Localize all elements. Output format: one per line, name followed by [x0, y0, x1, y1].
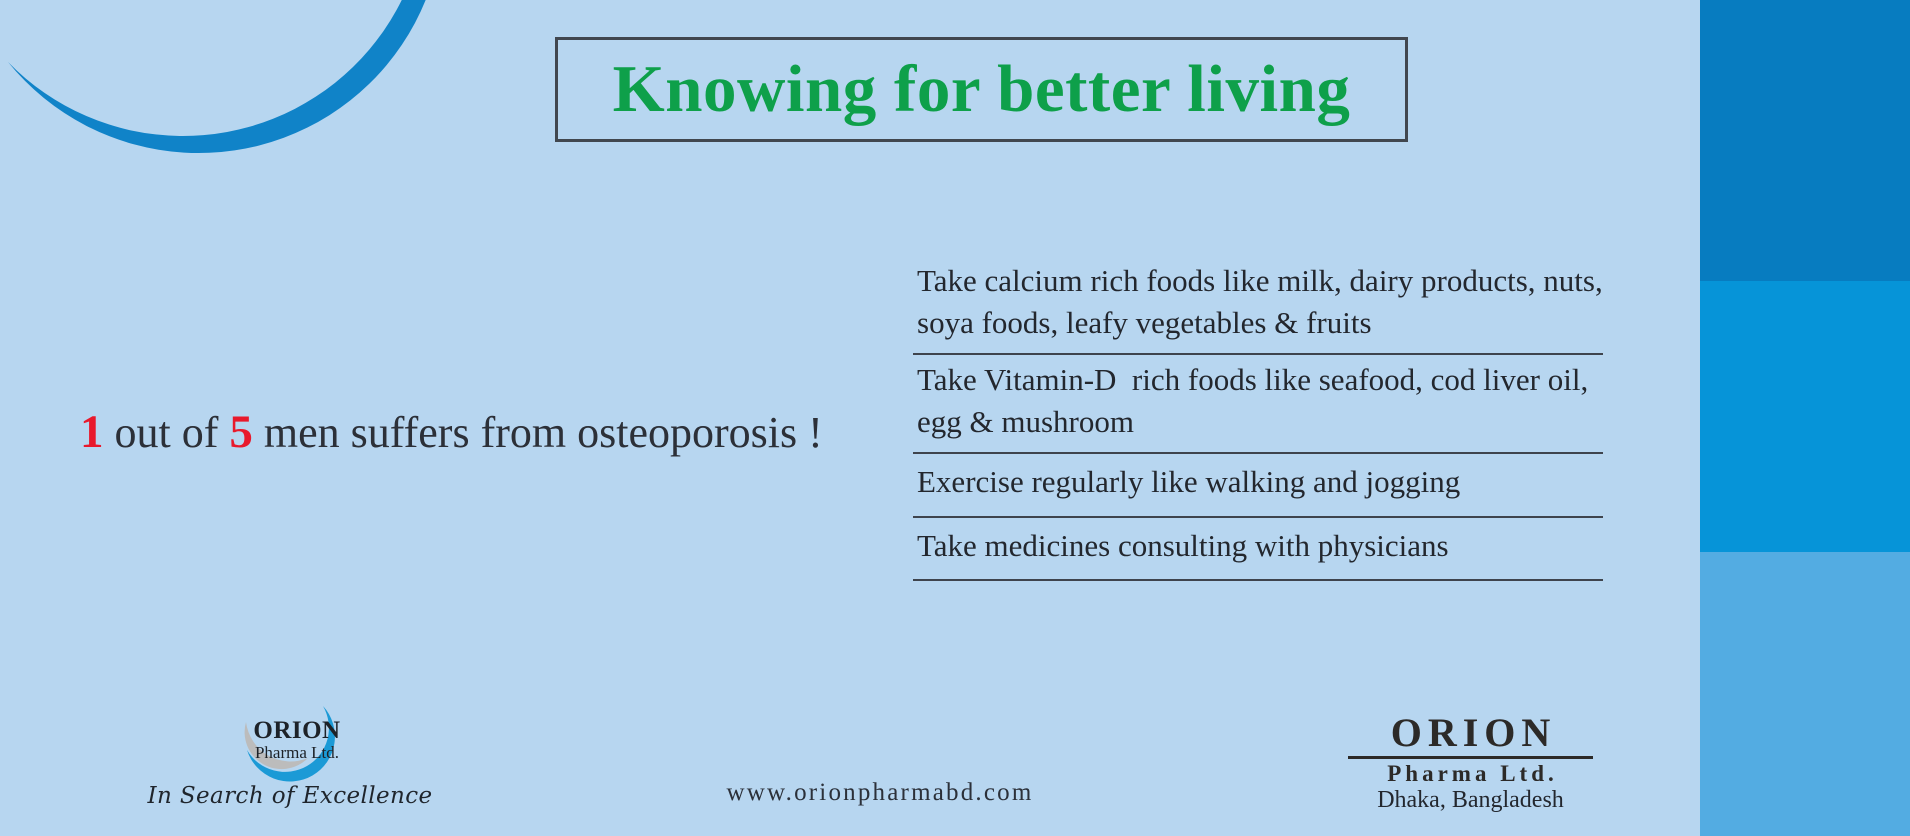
right-block-bottom — [1700, 552, 1910, 836]
tip-item-1: Take calcium rich foods like milk, dairy… — [913, 256, 1603, 355]
tip-item-2: Take Vitamin-D rich foods like seafood, … — [913, 355, 1603, 454]
orion-logo-left-subtitle: Pharma Ltd. — [232, 744, 362, 761]
tip-text-3: Exercise regularly like walking and jogg… — [913, 454, 1603, 509]
tip-text-1: Take calcium rich foods like milk, dairy… — [913, 256, 1603, 346]
statistic-text-end: men suffers from osteoporosis ! — [253, 408, 823, 457]
orion-tagline: In Search of Excellence — [140, 783, 440, 809]
right-block-middle — [1700, 281, 1910, 552]
website-url[interactable]: www.orionpharmabd.com — [600, 779, 1160, 807]
corner-swoosh-decoration — [0, 0, 448, 192]
statistic-number-one: 1 — [80, 406, 104, 458]
swoosh-blue-crescent — [8, 0, 444, 153]
statistic-number-five: 5 — [229, 406, 253, 458]
orion-logo-right-subtitle: Pharma Ltd. — [1348, 761, 1593, 786]
tip-item-4: Take medicines consulting with physician… — [913, 518, 1603, 582]
statistic-text-middle: out of — [104, 408, 230, 457]
orion-logo-left-brand: ORION — [232, 718, 362, 743]
orion-logo-left-wordmark: ORION Pharma Ltd. — [232, 718, 362, 761]
orion-logo-right-rule — [1348, 756, 1593, 759]
tip-text-2: Take Vitamin-D rich foods like seafood, … — [913, 355, 1603, 445]
tip-item-3: Exercise regularly like walking and jogg… — [913, 454, 1603, 518]
orion-logo-left: ORION Pharma Ltd. In Search of Excellenc… — [140, 686, 440, 816]
orion-logo-right-brand: ORION — [1348, 713, 1593, 753]
tip-text-4: Take medicines consulting with physician… — [913, 518, 1603, 573]
title-box: Knowing for better living — [555, 37, 1408, 142]
orion-logo-right-location: Dhaka, Bangladesh — [1348, 787, 1593, 815]
statistic-headline: 1 out of 5 men suffers from osteoporosis… — [80, 405, 820, 459]
orion-logo-right: ORION Pharma Ltd. Dhaka, Bangladesh — [1348, 713, 1593, 815]
right-color-column — [1700, 0, 1910, 836]
slide-canvas: Knowing for better living 1 out of 5 men… — [0, 0, 1910, 836]
tips-list: Take calcium rich foods like milk, dairy… — [913, 256, 1603, 581]
right-block-top — [1700, 0, 1910, 281]
page-title: Knowing for better living — [613, 56, 1351, 123]
